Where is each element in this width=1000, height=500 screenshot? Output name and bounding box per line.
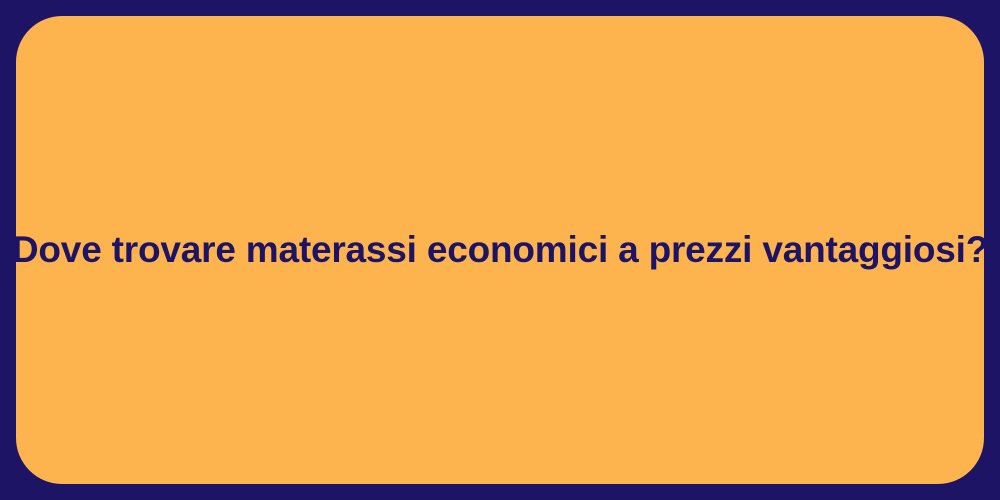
page-title: Dove trovare materassi economici a prezz… xyxy=(12,228,988,272)
screenshot-root: Dove trovare materassi economici a prezz… xyxy=(0,0,1000,500)
headline-container: Dove trovare materassi economici a prezz… xyxy=(16,228,984,272)
card-inner-panel: Dove trovare materassi economici a prezz… xyxy=(16,16,984,484)
card-outer-frame: Dove trovare materassi economici a prezz… xyxy=(0,0,1000,500)
